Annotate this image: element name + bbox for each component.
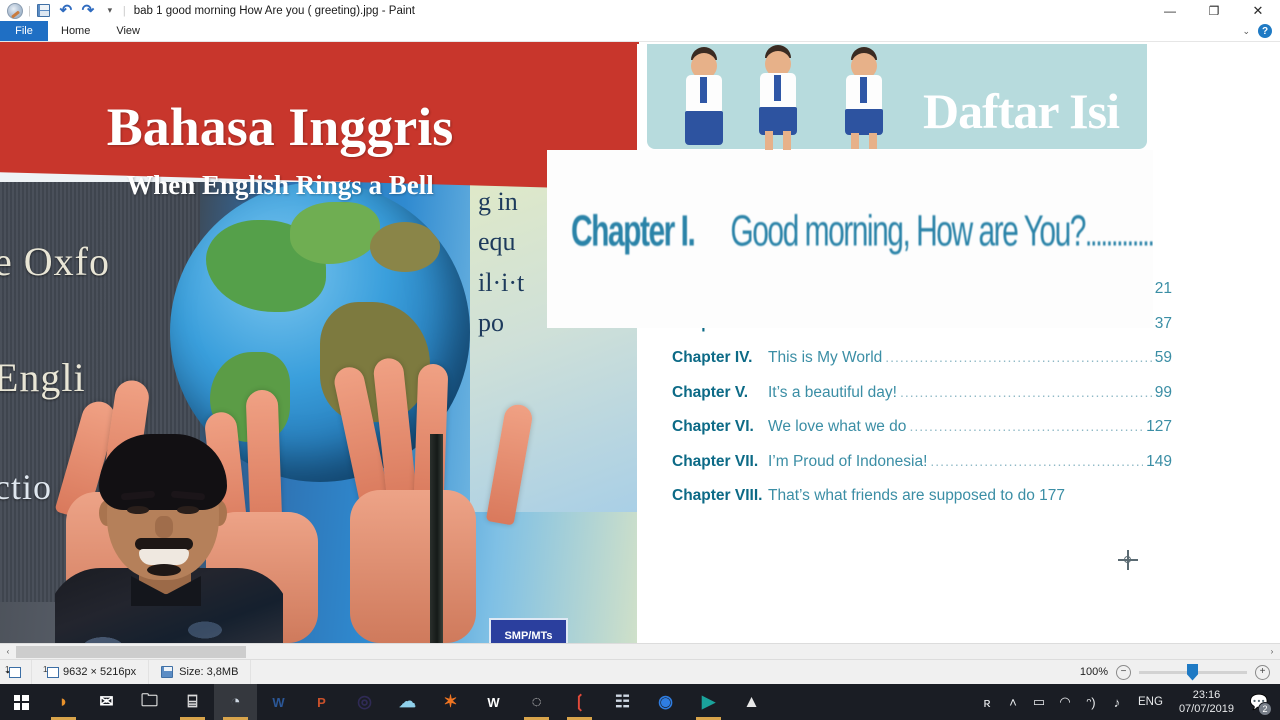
- clock[interactable]: 23:16 07/07/2019: [1171, 688, 1242, 716]
- customize-qat-icon[interactable]: ▾: [99, 1, 121, 21]
- taskbar-word-icon: W: [268, 691, 290, 713]
- taskbar-powerpoint-icon: P: [311, 691, 333, 713]
- toc-leader-dots: ........................................…: [909, 418, 1143, 434]
- help-icon[interactable]: ?: [1258, 24, 1272, 38]
- toc-title-label: That’s what friends are supposed to do 1…: [768, 487, 1172, 505]
- ribbon-right-controls: ⌄ ?: [1242, 21, 1280, 41]
- window-controls: — ❐ ✕: [1148, 0, 1280, 21]
- cover-level-badge: SMP/MTs KELAS: [489, 618, 568, 643]
- restore-button[interactable]: ❐: [1192, 0, 1236, 21]
- qat-divider-1: |: [26, 5, 33, 17]
- tab-view[interactable]: View: [103, 21, 153, 41]
- zoom-level: 100%: [1080, 666, 1108, 678]
- taskbar-firefox[interactable]: ◗: [42, 684, 85, 720]
- taskbar-cortana[interactable]: ◎: [343, 684, 386, 720]
- toc-heading: Daftar Isi: [923, 82, 1119, 140]
- taskbar-video-player[interactable]: ▶: [687, 684, 730, 720]
- taskbar-video-player-icon: ▶: [698, 691, 720, 713]
- chevron-down-icon[interactable]: ⌄: [1242, 26, 1250, 37]
- people-icon[interactable]: ʀ: [974, 684, 1000, 720]
- status-filesize-cell: Size: 3,8MB: [149, 660, 251, 685]
- taskbar-word[interactable]: W: [257, 684, 300, 720]
- toc-banner: Daftar Isi: [647, 44, 1147, 149]
- paint-window: | ↶ ↷ ▾ | bab 1 good morning How Are you…: [0, 0, 1280, 720]
- taskbar-powerpoint[interactable]: P: [300, 684, 343, 720]
- show-hidden-icons[interactable]: ˄: [1000, 684, 1026, 720]
- cover-title: Bahasa Inggris: [0, 100, 560, 154]
- taskbar-pdf-reader-icon: ❲: [569, 691, 591, 713]
- taskbar-chrome-icon: ◉: [655, 691, 677, 713]
- disk-icon: [161, 666, 173, 678]
- toc-row: Chapter VIII. That’s what friends are su…: [672, 487, 1172, 522]
- magnified-title-label: Good morning, How are You?: [730, 208, 1085, 257]
- zoom-slider-track[interactable]: [1139, 671, 1247, 674]
- toc-page-number: 99: [1155, 384, 1172, 402]
- save-icon[interactable]: [33, 1, 55, 21]
- cover-backdrop-word-oxford: e Oxfo: [0, 238, 110, 285]
- taskbar-mail[interactable]: ✉: [85, 684, 128, 720]
- toc-page-number: 21: [1155, 280, 1172, 298]
- taskbar-pdf-reader[interactable]: ❲: [558, 684, 601, 720]
- language-indicator[interactable]: ENG: [1130, 696, 1171, 708]
- taskbar-avast[interactable]: ✶: [429, 684, 472, 720]
- status-bar: ✣ 9632 × 5216px Size: 3,8MB 100% − +: [0, 659, 1280, 684]
- zoom-in-button[interactable]: +: [1255, 665, 1270, 680]
- taskbar-calculator-icon: ⌸: [182, 691, 204, 713]
- file-size: Size: 3,8MB: [179, 666, 238, 678]
- image-dimensions: 9632 × 5216px: [63, 666, 136, 678]
- clock-time: 23:16: [1179, 688, 1234, 702]
- action-center-button[interactable]: 💬 2: [1242, 684, 1276, 720]
- toc-title-label: This is My World: [768, 349, 882, 367]
- scroll-left-icon[interactable]: ‹: [0, 644, 16, 660]
- toc-row: Chapter VI. We love what we do .........…: [672, 418, 1172, 453]
- toc-title-label: I’m Proud of Indonesia!: [768, 453, 927, 471]
- toc-chapter-label: Chapter IV.: [672, 349, 768, 367]
- status-cursor-cell: ✣: [0, 660, 32, 685]
- taskbar-mail-icon: ✉: [96, 691, 118, 713]
- magnified-leader-dots: ...............................: [1085, 211, 1153, 256]
- taskbar-avast-icon: ✶: [440, 691, 462, 713]
- action-center-badge: 2: [1258, 702, 1272, 716]
- taskbar-cortana-icon: ◎: [354, 691, 376, 713]
- image-size-icon: [44, 666, 57, 678]
- ribbon-tab-bar: File Home View ⌄ ?: [0, 21, 1280, 42]
- cover-backdrop-word-ction: ctio: [0, 466, 52, 508]
- redo-icon[interactable]: ↷: [77, 1, 99, 21]
- clock-date: 07/07/2019: [1179, 702, 1234, 716]
- taskbar-chrome[interactable]: ◉: [644, 684, 687, 720]
- toc-page-number: 59: [1155, 349, 1172, 367]
- windows-logo-icon: [14, 695, 29, 710]
- taskbar-file-explorer[interactable]: 🗀: [128, 684, 171, 720]
- toc-row: Chapter V. It’s a beautiful day! .......…: [672, 384, 1172, 419]
- student-illustration-2: [757, 45, 803, 149]
- student-illustration-3: [843, 45, 889, 149]
- system-tray: ʀ ˄ ▭ ◠ ᵔ) ♪ ENG 23:16 07/07/2019 💬 2: [974, 684, 1280, 720]
- taskbar-notes[interactable]: ☷: [601, 684, 644, 720]
- battery-icon[interactable]: ▭: [1026, 684, 1052, 720]
- scroll-right-icon[interactable]: ›: [1264, 644, 1280, 660]
- badge-level-label: SMP/MTs: [491, 630, 566, 642]
- zoom-controls: 100% − +: [1080, 665, 1280, 680]
- toc-title-label: We love what we do: [768, 418, 906, 436]
- taskbar-obs-studio[interactable]: ◌: [515, 684, 558, 720]
- title-bar: | ↶ ↷ ▾ | bab 1 good morning How Are you…: [0, 0, 1280, 21]
- zoom-out-button[interactable]: −: [1116, 665, 1131, 680]
- taskbar-firefox-icon: ◗: [53, 691, 75, 713]
- taskbar-photos[interactable]: ▲: [730, 684, 773, 720]
- undo-icon[interactable]: ↶: [55, 1, 77, 21]
- toc-page-number: 149: [1146, 453, 1172, 471]
- taskbar-notes-icon: ☷: [612, 691, 634, 713]
- student-illustration-1: [683, 45, 729, 149]
- table-of-contents-page: Daftar Isi Chapter II. It’s Me! ........…: [639, 42, 1280, 643]
- taskbar-wps[interactable]: W: [472, 684, 515, 720]
- scrollbar-thumb[interactable]: [16, 646, 246, 658]
- taskbar-obs-studio-icon: ◌: [526, 691, 548, 713]
- taskbar-paint-icon: ◔: [225, 691, 247, 713]
- window-title: bab 1 good morning How Are you ( greetin…: [134, 5, 415, 17]
- status-dimensions-cell: 9632 × 5216px: [32, 660, 149, 685]
- taskbar-onedrive-icon: ☁: [397, 691, 419, 713]
- magnifier-overlay: Chapter I. Good morning, How are You? ..…: [547, 150, 1153, 328]
- quick-access-toolbar: | ↶ ↷ ▾ |: [0, 1, 128, 21]
- network-icon[interactable]: ◠: [1052, 684, 1078, 720]
- toc-chapter-label: Chapter VIII.: [672, 487, 768, 505]
- toc-row: Chapter VII. I’m Proud of Indonesia! ...…: [672, 453, 1172, 488]
- volume-icon[interactable]: ᵔ): [1078, 684, 1104, 720]
- taskbar-wps-icon: W: [483, 691, 505, 713]
- zoom-slider-thumb[interactable]: [1187, 664, 1198, 681]
- precision-cursor: [1118, 550, 1138, 570]
- book-spine: [430, 434, 443, 643]
- taskbar-photos-icon: ▲: [741, 691, 763, 713]
- toc-leader-dots: ........................................…: [900, 384, 1152, 400]
- toc-chapter-label: Chapter V.: [672, 384, 768, 402]
- taskbar-calculator[interactable]: ⌸: [171, 684, 214, 720]
- toc-page-number: 37: [1155, 315, 1172, 333]
- toc-title-label: It’s a beautiful day!: [768, 384, 897, 402]
- cover-subtitle: When English Rings a Bell: [0, 172, 560, 199]
- toc-leader-dots: ........................................…: [930, 453, 1143, 469]
- toc-chapter-label: Chapter VII.: [672, 453, 768, 471]
- taskbar-items: ◗✉🗀⌸◔WP◎☁✶W◌❲☷◉▶▲: [42, 684, 773, 720]
- taskbar-paint[interactable]: ◔: [214, 684, 257, 720]
- taskbar-onedrive[interactable]: ☁: [386, 684, 429, 720]
- close-button[interactable]: ✕: [1236, 0, 1280, 21]
- tab-home[interactable]: Home: [48, 21, 103, 41]
- start-button[interactable]: [0, 684, 42, 720]
- toc-chapter-label: Chapter VI.: [672, 418, 768, 436]
- magnified-toc-row: Chapter I. Good morning, How are You? ..…: [571, 208, 1147, 257]
- qat-divider-2: |: [121, 5, 128, 17]
- paint-logo-icon[interactable]: [4, 1, 26, 21]
- move-cursor-icon: ✣: [6, 666, 19, 678]
- minimize-button[interactable]: —: [1148, 0, 1192, 21]
- magnified-chapter-label: Chapter I.: [571, 208, 694, 257]
- taskbar: ◗✉🗀⌸◔WP◎☁✶W◌❲☷◉▶▲ ʀ ˄ ▭ ◠ ᵔ) ♪ ENG 23:16…: [0, 684, 1280, 720]
- scrollbar-track[interactable]: [16, 644, 1264, 660]
- toc-row: Chapter IV. This is My World ...........…: [672, 349, 1172, 384]
- audio-device-icon[interactable]: ♪: [1104, 684, 1130, 720]
- toc-page-number: 127: [1146, 418, 1172, 436]
- tab-file[interactable]: File: [0, 21, 48, 41]
- toc-leader-dots: ........................................…: [885, 349, 1151, 365]
- horizontal-scrollbar[interactable]: ‹ ›: [0, 643, 1280, 659]
- taskbar-file-explorer-icon: 🗀: [139, 691, 161, 713]
